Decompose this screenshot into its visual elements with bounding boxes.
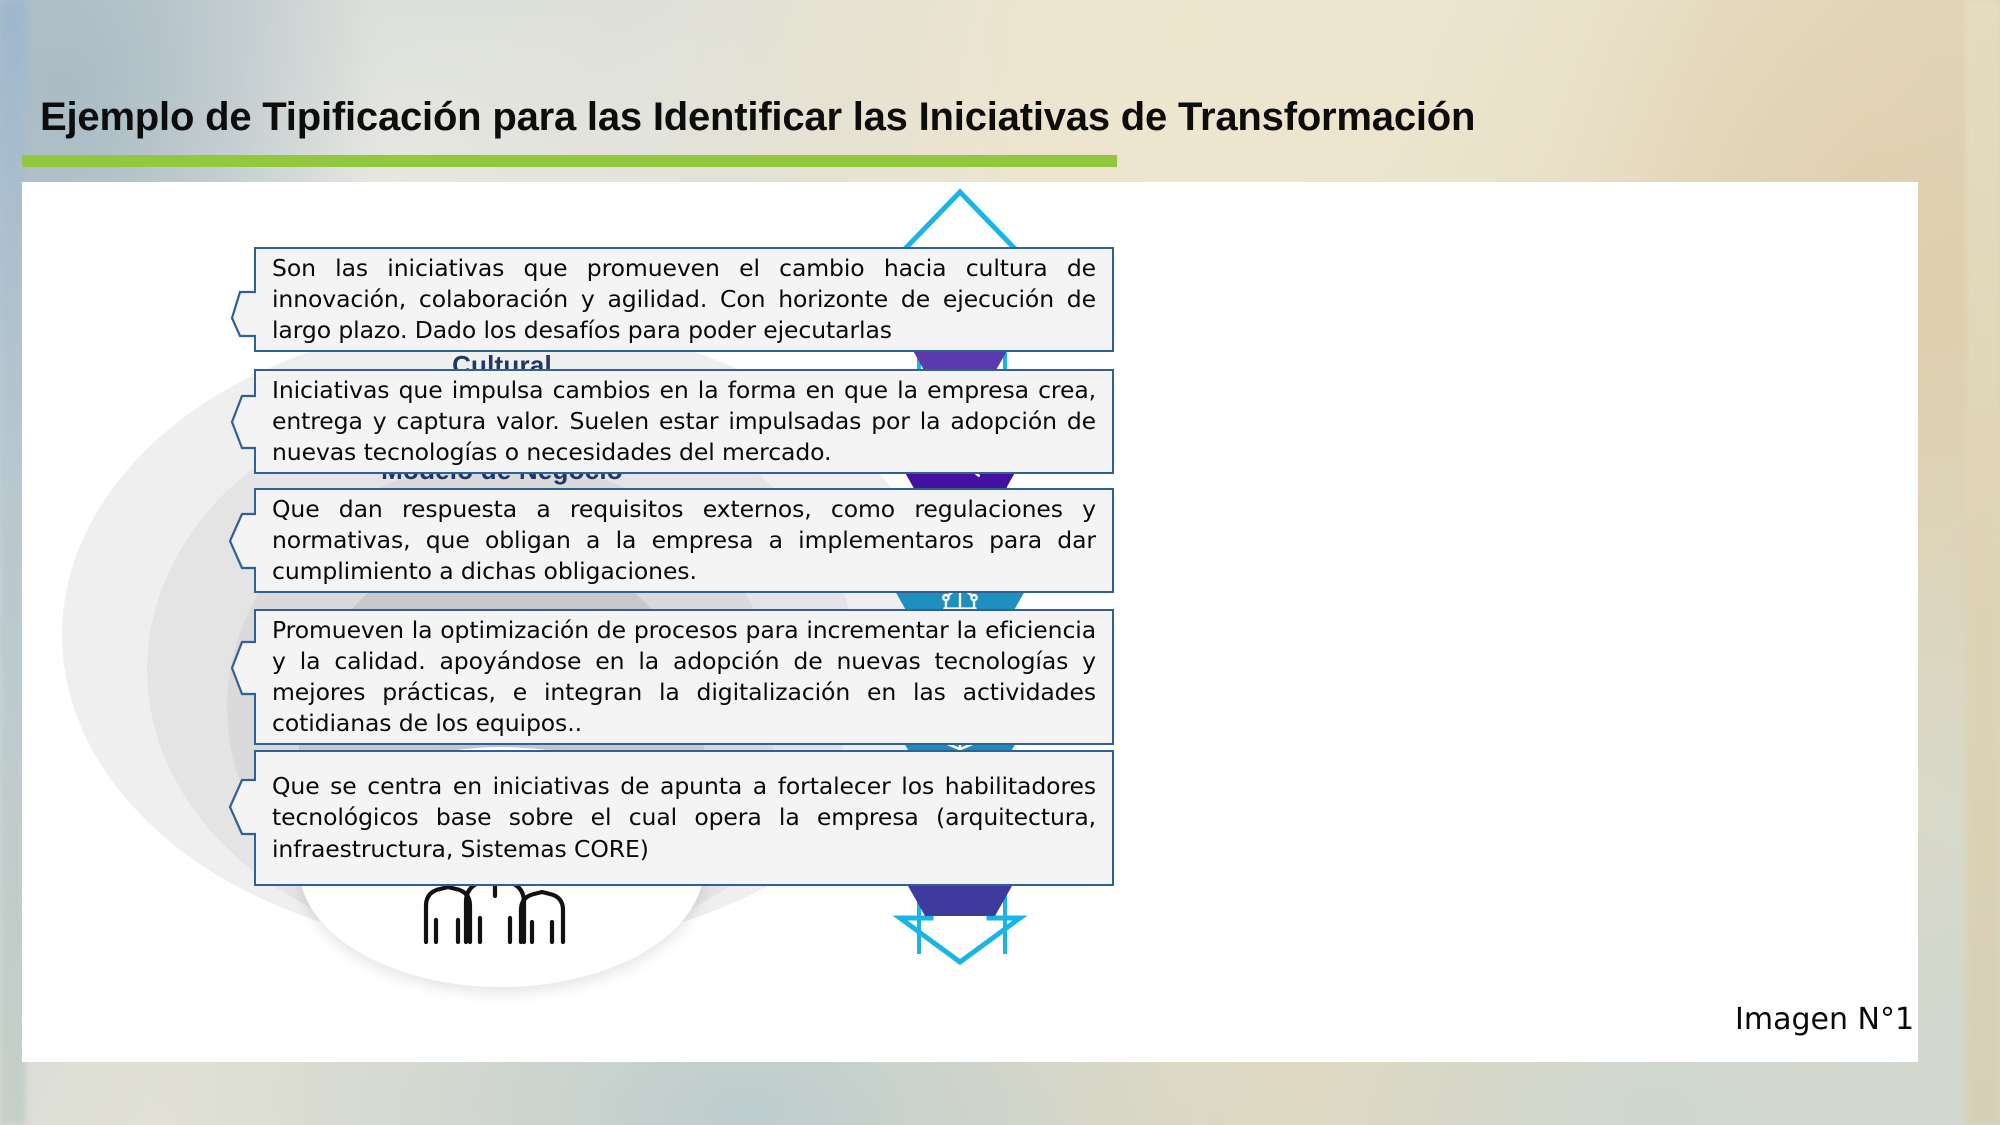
content-panel: Cultural Modelo de Negocio Regulatoria M…	[22, 182, 1918, 1062]
callout-text-modelo-de-negocio: Iniciativas que impulsa cambios en la fo…	[256, 375, 1112, 468]
image-caption: Imagen N°1	[1735, 1002, 1914, 1037]
callout-text-habilitadores: Que se centra en iniciativas de apunta a…	[256, 771, 1112, 864]
slide-canvas: Ejemplo de Tipificación para las Identif…	[0, 0, 2000, 1125]
callout-tail-cultural	[230, 290, 260, 340]
callout-tail-habilitadores	[228, 778, 260, 836]
callout-tail-regulatoria	[228, 512, 260, 570]
page-title: Ejemplo de Tipificación para las Identif…	[40, 95, 1640, 140]
callout-regulatoria: Que dan respuesta a requisitos externos,…	[254, 488, 1114, 593]
callout-text-modelo-operativo: Promueven la optimización de procesos pa…	[256, 615, 1112, 739]
callout-text-regulatoria: Que dan respuesta a requisitos externos,…	[256, 494, 1112, 587]
background-right-strip	[1966, 0, 2000, 1125]
title-underline-rule	[22, 155, 1117, 167]
callout-cultural: Son las iniciativas que promueven el cam…	[254, 247, 1114, 352]
callout-text-cultural: Son las iniciativas que promueven el cam…	[256, 253, 1112, 346]
callout-modelo-de-negocio: Iniciativas que impulsa cambios en la fo…	[254, 369, 1114, 474]
callout-tail-modelo-de-negocio	[230, 394, 260, 450]
callout-habilitadores: Que se centra en iniciativas de apunta a…	[254, 750, 1114, 886]
callout-tail-modelo-operativo	[230, 640, 260, 696]
callout-modelo-operativo: Promueven la optimización de procesos pa…	[254, 609, 1114, 745]
